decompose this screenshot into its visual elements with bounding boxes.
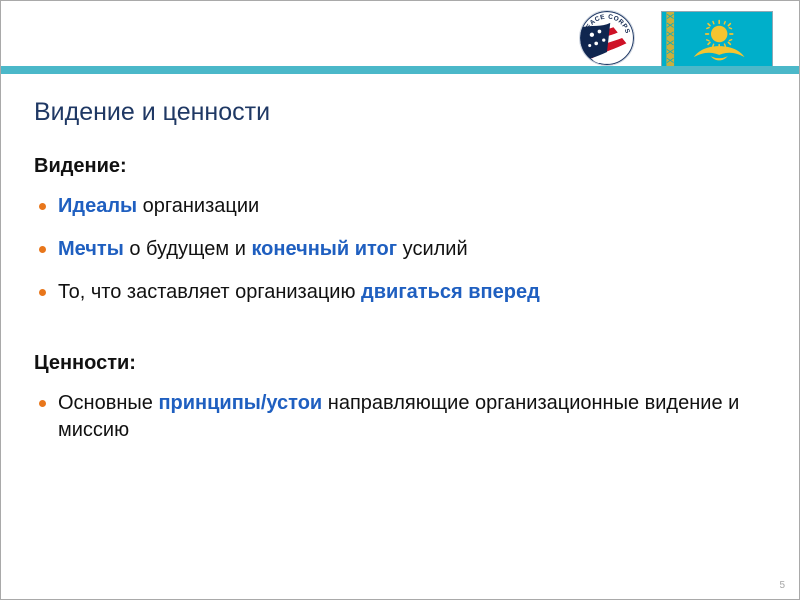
slide-body: Видение: Идеалы организации Мечты о буду… [34,153,754,444]
list-item: То, что заставляет организацию двигаться… [34,279,754,306]
section-heading-values: Ценности: [34,350,754,376]
header-logo-group: PEACE CORPS [579,7,779,65]
bullet-segment-plain: Основные [58,392,158,414]
bullet-segment-highlight: двигаться вперед [361,281,540,303]
slide: PEACE CORPS [0,0,800,600]
page-title: Видение и ценности [34,97,270,127]
section-values: Ценности: Основные принципы/устои направ… [34,350,754,444]
page-number: 5 [779,580,785,591]
bullet-segment-plain: о будущем и [124,238,252,260]
bullet-segment-highlight: Мечты [58,238,124,260]
header-divider-rule [1,66,800,74]
section-vision: Видение: Идеалы организации Мечты о буду… [34,153,754,306]
peace-corps-logo: PEACE CORPS [579,10,635,66]
bullet-segment-highlight: принципы/устои [158,392,322,414]
bullet-dot-icon [39,203,46,210]
bullet-dot-icon [39,400,46,407]
bullet-segment-plain: То, что заставляет организацию [58,281,361,303]
list-item: Основные принципы/устои направляющие орг… [34,390,754,444]
bullet-segment-plain: усилий [397,238,468,260]
bullet-dot-icon [39,246,46,253]
bullet-list-vision: Идеалы организации Мечты о будущем и кон… [34,193,754,306]
kazakhstan-flag [661,11,773,68]
bullet-segment-highlight: Идеалы [58,195,137,217]
section-spacer [34,306,754,350]
list-item: Мечты о будущем и конечный итог усилий [34,236,754,263]
bullet-segment-plain: организации [137,195,259,217]
list-item: Идеалы организации [34,193,754,220]
bullet-list-values: Основные принципы/устои направляющие орг… [34,390,754,444]
section-heading-vision: Видение: [34,153,754,179]
bullet-segment-highlight: конечный итог [251,238,397,260]
bullet-dot-icon [39,289,46,296]
